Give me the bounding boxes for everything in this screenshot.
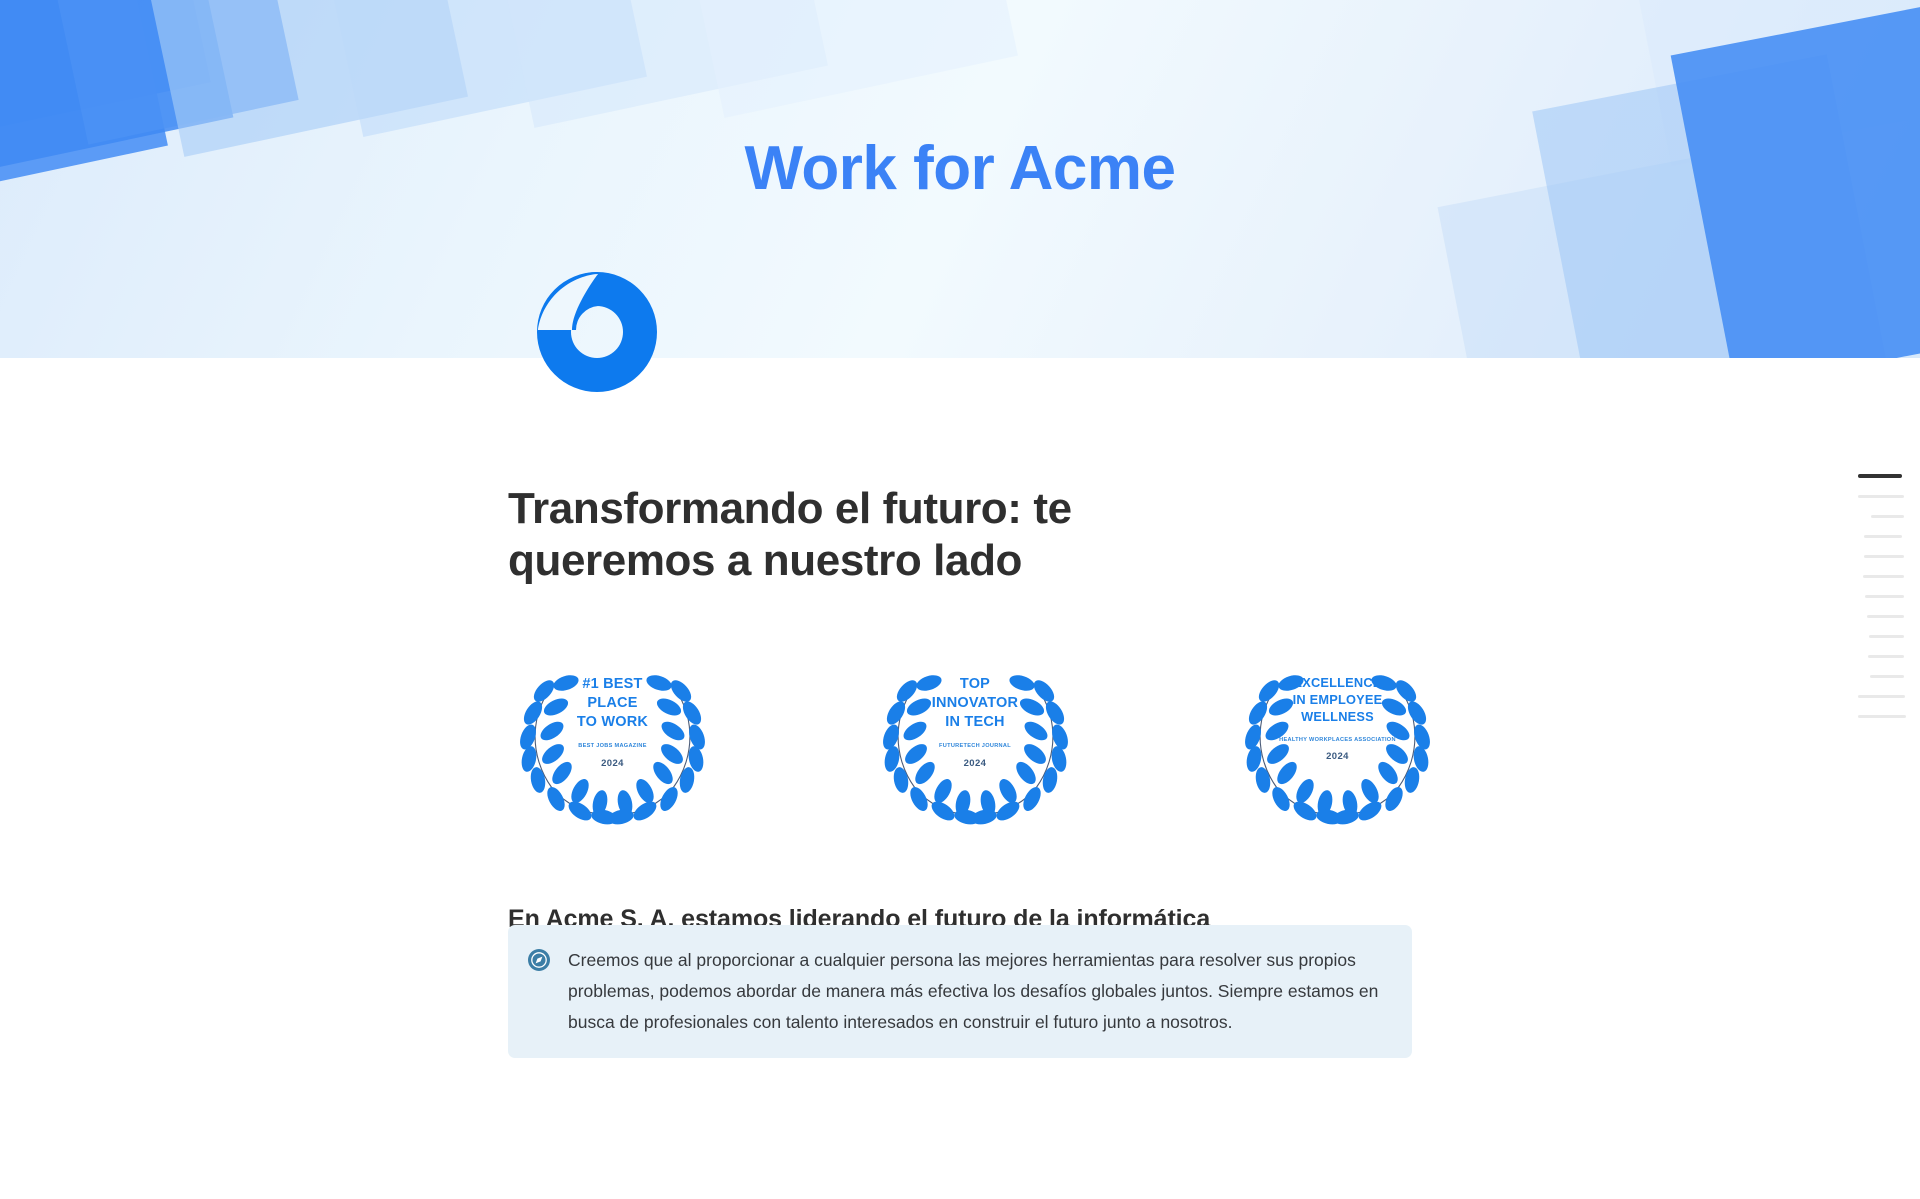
outline-item[interactable] — [1850, 566, 1920, 586]
outline-item-bar — [1858, 695, 1905, 698]
award-badges-row: #1 BEST PLACE TO WORK BEST JOBS MAGAZINE… — [500, 653, 1450, 828]
outline-item[interactable] — [1850, 526, 1920, 546]
hero-title: Work for Acme — [0, 133, 1920, 204]
outline-item-bar — [1858, 495, 1904, 498]
outline-item-bar — [1871, 515, 1904, 518]
compass-icon — [528, 949, 550, 971]
outline-item-bar — [1868, 655, 1904, 658]
outline-item[interactable] — [1850, 546, 1920, 566]
badge-year: 2024 — [964, 758, 987, 769]
deco-square — [472, 0, 828, 128]
badge-title: #1 BEST PLACE TO WORK — [577, 675, 648, 732]
outline-item[interactable] — [1850, 466, 1920, 486]
document-outline-minimap[interactable] — [1850, 466, 1920, 726]
award-badge: EXCELLENCE IN EMPLOYEE WELLNESS HEALTHY … — [1225, 653, 1450, 828]
outline-item-bar — [1864, 535, 1902, 538]
outline-item-bar — [1867, 615, 1904, 618]
acme-ring-logo-icon — [528, 266, 666, 398]
badge-year: 2024 — [601, 758, 624, 769]
callout-box: Creemos que al proporcionar a cualquier … — [508, 925, 1412, 1058]
deco-square — [303, 0, 647, 137]
outline-item[interactable] — [1850, 686, 1920, 706]
outline-item[interactable] — [1850, 646, 1920, 666]
deco-square — [1532, 54, 1888, 358]
page-title: Transformando el futuro: te queremos a n… — [508, 483, 1268, 585]
outline-item-bar — [1869, 635, 1904, 638]
outline-item[interactable] — [1850, 506, 1920, 526]
outline-item-bar — [1864, 555, 1904, 558]
outline-item[interactable] — [1850, 666, 1920, 686]
deco-square — [36, 0, 298, 145]
hero-banner: Work for Acme — [0, 0, 1920, 358]
badge-organization: HEALTHY WORKPLACES ASSOCIATION — [1279, 736, 1396, 744]
award-badge: #1 BEST PLACE TO WORK BEST JOBS MAGAZINE… — [500, 653, 725, 828]
outline-item[interactable] — [1850, 626, 1920, 646]
badge-title: EXCELLENCE IN EMPLOYEE WELLNESS — [1293, 675, 1383, 726]
outline-item-bar — [1858, 715, 1906, 718]
badge-organization: FUTURETECH JOURNAL — [939, 742, 1011, 750]
badge-year: 2024 — [1326, 751, 1349, 762]
outline-item[interactable] — [1850, 486, 1920, 506]
outline-item-bar — [1865, 595, 1904, 598]
award-badge: TOP INNOVATOR IN TECH FUTURETECH JOURNAL… — [863, 653, 1088, 828]
outline-item[interactable] — [1850, 706, 1920, 726]
badge-title: TOP INNOVATOR IN TECH — [932, 675, 1018, 732]
deco-square — [0, 0, 211, 151]
outline-item-bar — [1870, 675, 1904, 678]
outline-item[interactable] — [1850, 586, 1920, 606]
callout-text: Creemos que al proporcionar a cualquier … — [568, 945, 1388, 1038]
badge-organization: BEST JOBS MAGAZINE — [578, 742, 647, 750]
outline-item-bar — [1863, 575, 1904, 578]
outline-item-bar — [1858, 474, 1902, 478]
deco-square — [662, 0, 1018, 118]
outline-item[interactable] — [1850, 606, 1920, 626]
